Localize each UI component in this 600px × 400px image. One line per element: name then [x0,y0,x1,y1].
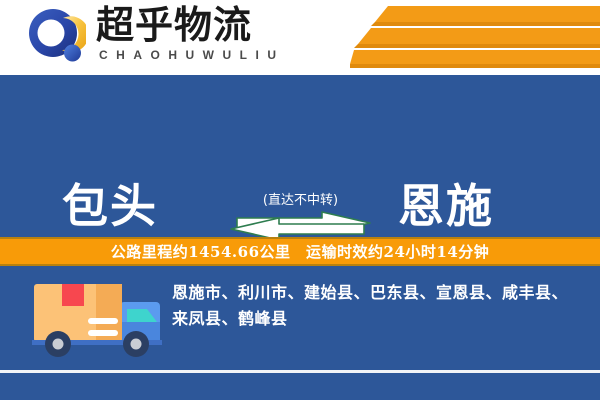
footer-strip [0,373,600,400]
orange-diagonal-stripes-icon [350,6,600,68]
banner-header: 超乎物流 CHAOHUWULIU [0,0,600,75]
coverage-areas-text: 恩施市、利川市、建始县、巴东县、宣恩县、咸丰县、来凤县、鹤峰县 [172,280,582,332]
route-panel: 包头 (直达不中转) 【往返运输】 恩施 [0,75,600,237]
distance-duration-text: 公路里程约1454.66公里 运输时效约24小时14分钟 [111,241,490,262]
brand-name-en: CHAOHUWULIU [99,48,285,62]
circle-crescent-logo-icon [28,8,86,66]
coverage-section: 恩施市、利川市、建始县、巴东县、宣恩县、咸丰县、来凤县、鹤峰县 [0,266,600,371]
brand-name-cn: 超乎物流 [96,4,252,46]
distance-duration-bar: 公路里程约1454.66公里 运输时效约24小时14分钟 [0,237,600,266]
direct-route-note: (直达不中转) [228,193,373,209]
origin-city: 包头 [62,170,158,236]
delivery-truck-icon [32,278,164,360]
logistics-route-banner: 超乎物流 CHAOHUWULIU 包头 (直达不中转) 【往 [0,0,600,400]
destination-city: 恩施 [398,170,494,236]
